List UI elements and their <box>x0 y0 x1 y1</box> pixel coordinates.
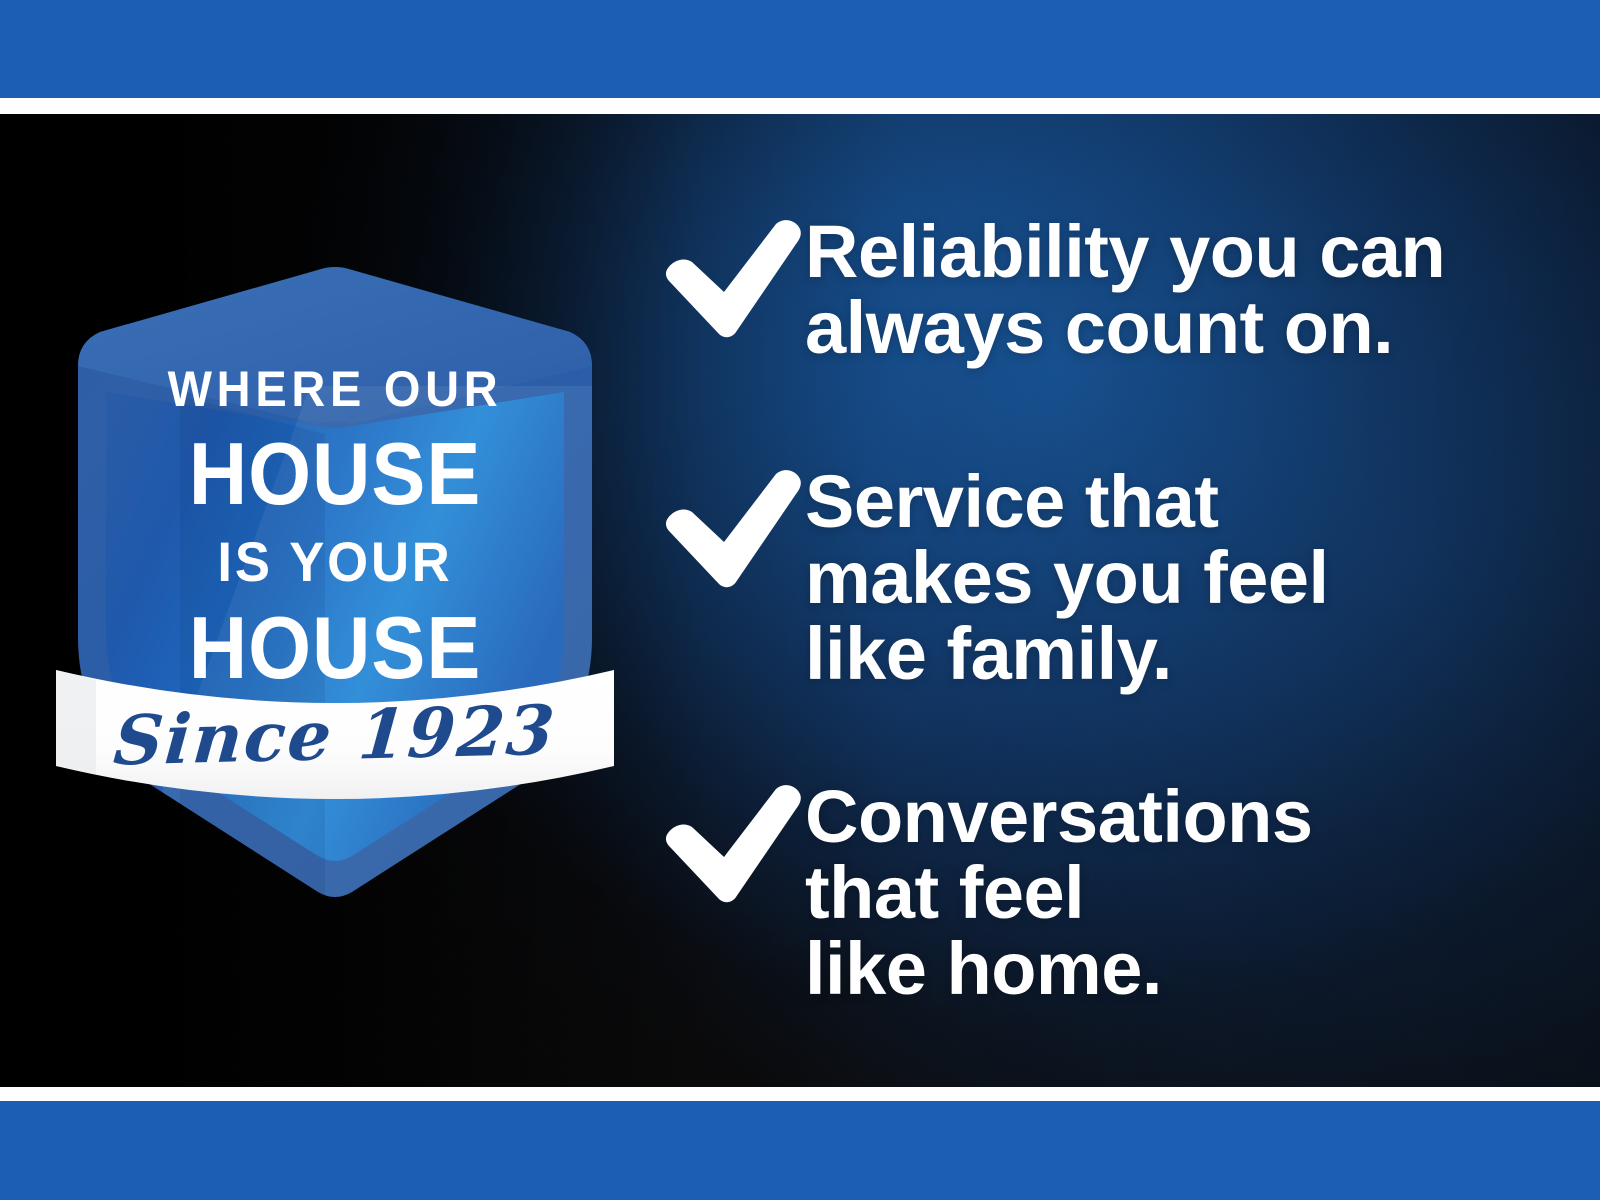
check-icon <box>660 220 805 340</box>
badge-ribbon-shadow-left <box>56 670 96 774</box>
benefits-list: Reliability you can always count on. Ser… <box>660 114 1540 1087</box>
check-icon <box>660 785 805 905</box>
shield-sheen-edge <box>180 396 325 906</box>
brand-badge: WHERE OUR HOUSE IS YOUR HOUSE Since 1923 <box>60 266 610 906</box>
bottom-brand-bar <box>0 1101 1600 1200</box>
promo-poster: WHERE OUR HOUSE IS YOUR HOUSE Since 1923… <box>0 0 1600 1200</box>
benefit-item-reliability: Reliability you can always count on. <box>660 214 1540 366</box>
top-brand-bar <box>0 0 1600 98</box>
check-icon <box>660 470 805 590</box>
benefit-text-conversations: Conversations that feel like home. <box>805 779 1540 1008</box>
benefit-text-service: Service that makes you feel like family. <box>805 464 1540 693</box>
benefit-text-reliability: Reliability you can always count on. <box>805 214 1540 366</box>
benefit-item-service: Service that makes you feel like family. <box>660 464 1540 693</box>
benefit-item-conversations: Conversations that feel like home. <box>660 779 1540 1008</box>
